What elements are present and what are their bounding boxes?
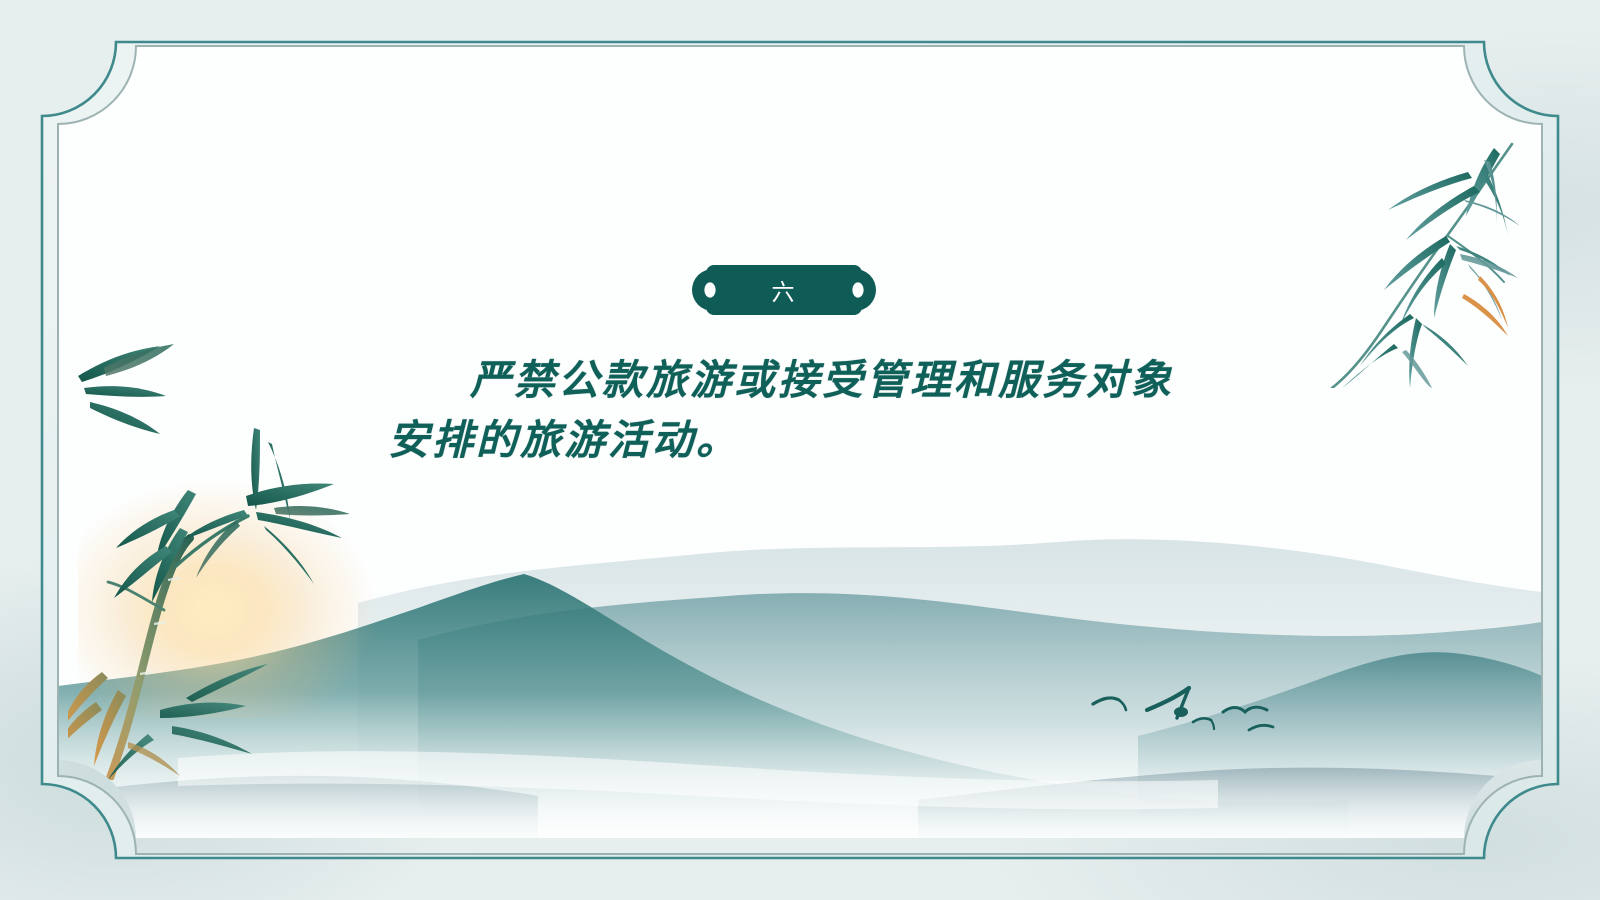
badge-hole-right: [852, 282, 863, 297]
badge-plaque-shape: [692, 261, 876, 319]
flying-birds-icon: [1063, 656, 1278, 736]
section-badge: 六: [692, 261, 876, 319]
bamboo-leaves-icon: [1298, 138, 1542, 388]
badge-hole-left: [704, 282, 715, 297]
bamboo-branch-icon: [68, 310, 368, 780]
slide-canvas: 六 严禁公款旅游或接受管理和服务对象安排的旅游活动。: [0, 0, 1600, 900]
body-paragraph: 严禁公款旅游或接受管理和服务对象安排的旅游活动。: [388, 350, 1188, 470]
